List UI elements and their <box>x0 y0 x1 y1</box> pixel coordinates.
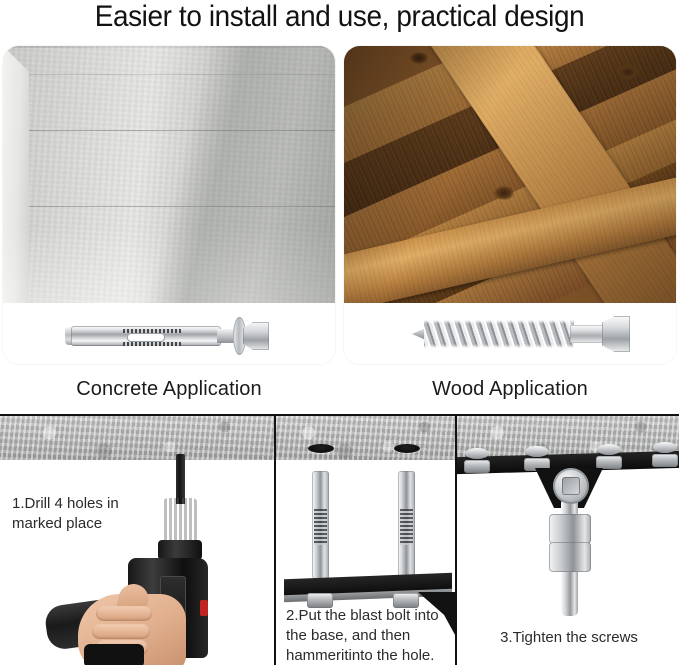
anchor-expansion-slot <box>127 333 165 342</box>
concrete-application-caption: Concrete Application <box>3 376 335 402</box>
step-panel-1: 1.Drill 4 holes in marked place <box>0 416 274 665</box>
concrete-ceiling-band <box>276 416 457 460</box>
finger <box>96 606 152 621</box>
wrench-socket-head <box>553 468 589 504</box>
wood-photo-shading <box>344 46 676 303</box>
blast-bolt <box>398 471 415 579</box>
screw-hex-head <box>602 316 630 352</box>
drill-chuck <box>162 498 198 544</box>
mount-nut <box>596 456 622 469</box>
concrete-ceiling-band <box>0 416 274 460</box>
drilled-hole <box>308 444 334 453</box>
drilled-hole <box>394 444 420 453</box>
concrete-application-card <box>3 46 335 364</box>
step-3-text: 3.Tighten the screws <box>457 628 679 648</box>
page-title: Easier to install and use, practical des… <box>24 0 655 36</box>
finger <box>92 624 150 639</box>
mount-bolt <box>525 446 549 457</box>
installation-steps: 1.Drill 4 holes in marked place 2.Put th… <box>0 414 679 665</box>
wood-application-card <box>344 46 676 364</box>
wrist-sleeve <box>84 644 144 665</box>
mount-bolt <box>597 444 621 455</box>
sleeve-anchor-bolt <box>65 315 280 355</box>
wood-fastener-strip <box>344 303 676 364</box>
drill-bit <box>176 454 185 504</box>
blast-bolt <box>312 471 329 579</box>
step-2-text: 2.Put the blast bolt into the base, and … <box>286 606 439 665</box>
anchor-serration-bottom <box>123 342 181 346</box>
anchor-hex-head <box>243 322 269 350</box>
wrench-collar-lower <box>549 542 591 572</box>
wood-ceiling-photo <box>344 46 676 303</box>
wood-application-caption: Wood Application <box>344 376 676 402</box>
mount-nut <box>652 454 678 467</box>
step-panel-3: 3.Tighten the screws <box>455 416 679 665</box>
step-panel-2: 2.Put the blast bolt into the base, and … <box>274 416 457 665</box>
screw-threads <box>424 320 574 348</box>
mount-bolt <box>653 442 677 453</box>
concrete-ceiling-photo <box>3 46 335 303</box>
lag-screw <box>412 313 632 355</box>
drill-indicator <box>200 600 208 616</box>
concrete-wall-edge <box>3 46 29 303</box>
mount-bolt <box>465 448 489 459</box>
drill-torque-collar <box>158 540 202 560</box>
concrete-fastener-strip <box>3 303 335 364</box>
wrench-collar-upper <box>549 514 591 544</box>
mount-nut <box>464 460 490 473</box>
step-1-text: 1.Drill 4 holes in marked place <box>12 494 119 534</box>
